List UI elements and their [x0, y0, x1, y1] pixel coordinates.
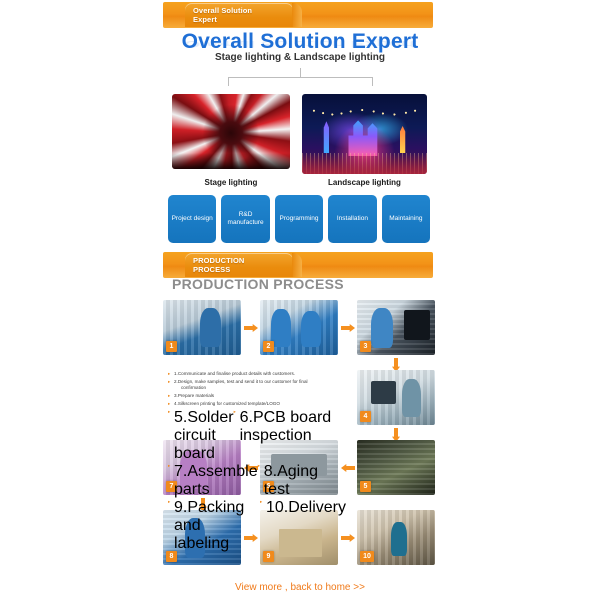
process-number-1: 1 [166, 341, 177, 352]
tower-left-silhouette [322, 121, 331, 153]
process-number-10: 10 [360, 551, 374, 562]
person-figure [391, 522, 407, 556]
page-root: Overall Solution Expert Overall Solution… [0, 0, 600, 600]
person-figure [200, 308, 220, 348]
connector-drop-left [228, 77, 229, 86]
production-tab-curl-icon [292, 253, 302, 277]
footer-link[interactable]: View more , back to home >> [0, 582, 600, 593]
production-process-banner-tab: PRODUCTION PROCESS [185, 253, 293, 277]
production-tab-line1: PRODUCTION [193, 256, 244, 265]
overall-solution-banner-tab: Overall Solution Expert [185, 3, 293, 27]
banner-tab-line2: Expert [193, 15, 217, 24]
process-number-3: 3 [360, 341, 371, 352]
bullet-text-continued: confirmation [174, 385, 346, 391]
bullet-text: 4.Silkscreen printing for customized tem… [174, 401, 280, 406]
test-chamber-shape [371, 381, 396, 404]
production-banner-tab-text: PRODUCTION PROCESS [193, 256, 289, 274]
process-photo-3: 3 [357, 300, 435, 355]
landscape-lighting-photo [302, 94, 427, 174]
list-item: 2.Design, make samples, test and send it… [168, 379, 346, 392]
process-row-1: 1 2 3 [163, 300, 435, 358]
process-photo-1: 1 [163, 300, 241, 355]
production-process-banner: PRODUCTION PROCESS [163, 252, 433, 278]
connector-stem [300, 68, 301, 77]
service-box-installation[interactable]: Installation [328, 195, 376, 243]
connector-bar [228, 77, 373, 78]
service-box-rd-manufacture[interactable]: R&D manufacture [221, 195, 269, 243]
list-item: 1.Communicate and finalise product detai… [168, 371, 346, 377]
process-number-5: 5 [360, 481, 371, 492]
list-item: 4.Silkscreen printing for customized tem… [168, 401, 346, 407]
process-number-4: 4 [360, 411, 371, 422]
list-item: 9.Packing and labeling 10.Delivery [168, 499, 346, 553]
process-photo-5: 5 [357, 440, 435, 495]
service-box-programming[interactable]: Programming [275, 195, 323, 243]
hero-connector-diagram [228, 68, 373, 86]
bullet-text: 1.Communicate and finalise product detai… [174, 371, 295, 376]
overall-solution-banner: Overall Solution Expert [163, 2, 433, 28]
process-number-2: 2 [263, 341, 274, 352]
process-arrow-right-2 [341, 324, 355, 332]
bullet-text: 2.Design, make samples, test and send it… [174, 379, 308, 384]
bullet-text: 3.Prepare materials [174, 393, 214, 398]
process-photo-2: 2 [260, 300, 338, 355]
landscape-lighting-caption: Landscape lighting [302, 178, 427, 187]
banner-tab-curl-icon [292, 3, 302, 27]
service-box-project-design[interactable]: Project design [168, 195, 216, 243]
connector-drop-right [372, 77, 373, 86]
service-boxes-row: Project design R&D manufacture Programmi… [168, 195, 430, 243]
production-process-title: PRODUCTION PROCESS [172, 276, 344, 292]
production-steps-list: 1.Communicate and finalise product detai… [168, 371, 346, 553]
bullet-text: 9.Packing and labeling [168, 499, 260, 553]
hero-subtitle: Stage lighting & Landscape lighting [0, 52, 600, 63]
stage-lighting-photo [172, 94, 290, 169]
service-box-maintaining[interactable]: Maintaining [382, 195, 430, 243]
production-tab-line2: PROCESS [193, 265, 230, 274]
bullet-text: 8.Aging test [258, 463, 346, 499]
tower-right-silhouette [398, 126, 407, 153]
bullet-text: 5.Solder circuit board [168, 409, 234, 463]
crowd-area [302, 153, 427, 174]
bullet-text: 10.Delivery [260, 499, 346, 553]
stage-lighting-caption: Stage lighting [172, 178, 290, 187]
bullet-text: 6.PCB board inspection [234, 409, 346, 463]
castle-silhouette [345, 120, 385, 156]
list-item: 5.Solder circuit board 6.PCB board inspe… [168, 409, 346, 463]
list-item: 7.Assemble parts 8.Aging test [168, 463, 346, 499]
string-lights-icon [307, 107, 422, 125]
person-figure [402, 379, 421, 418]
monitor-shape [404, 310, 431, 340]
person-figure [371, 308, 393, 349]
bullet-text: 7.Assemble parts [168, 463, 258, 499]
hero-title: Overall Solution Expert [0, 30, 600, 54]
person-figure [301, 311, 321, 347]
banner-tab-line1: Overall Solution [193, 6, 252, 15]
process-arrow-right-1 [244, 324, 258, 332]
list-item: 3.Prepare materials [168, 393, 346, 399]
process-photo-4: 4 [357, 370, 435, 425]
overall-solution-banner-tab-text: Overall Solution Expert [193, 6, 289, 24]
process-photo-10: 10 [357, 510, 435, 565]
